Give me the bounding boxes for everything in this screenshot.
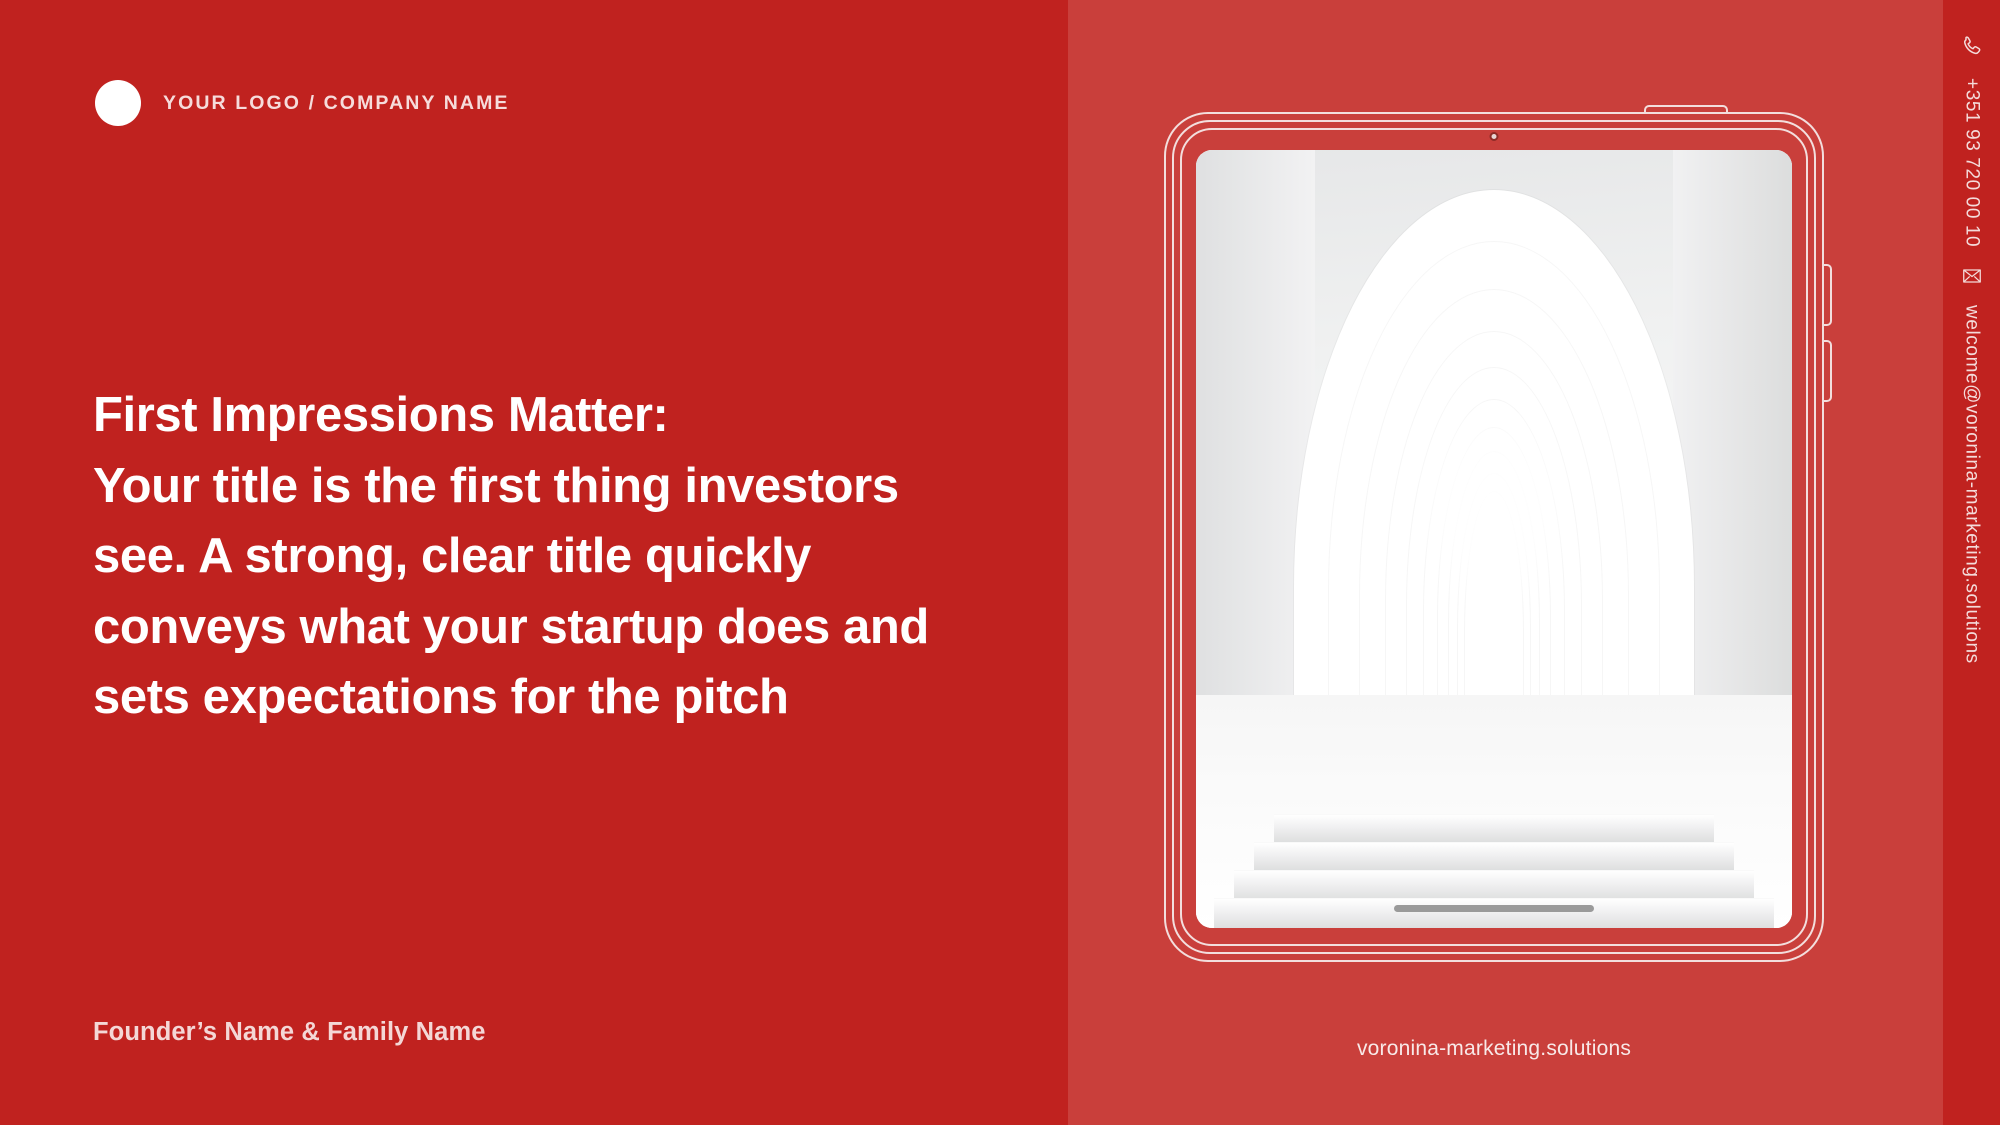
corridor-step-4 bbox=[1214, 898, 1774, 928]
corridor-step-2 bbox=[1254, 842, 1734, 870]
headline-line-1: First Impressions Matter: bbox=[93, 380, 1013, 451]
presentation-slide: YOUR LOGO / COMPANY NAME First Impressio… bbox=[0, 0, 2000, 1125]
circle-logo-mark-icon bbox=[95, 80, 141, 126]
envelope-icon bbox=[1961, 265, 1983, 287]
tablet-device-mockup bbox=[1164, 112, 1824, 962]
headline-block: First Impressions Matter: Your title is … bbox=[93, 380, 1013, 733]
website-url[interactable]: voronina-marketing.solutions bbox=[1357, 1037, 1631, 1061]
arched-corridor-image bbox=[1196, 150, 1792, 928]
headline-line-2: Your title is the first thing investors bbox=[93, 451, 1013, 522]
volume-down-button[interactable] bbox=[1823, 340, 1832, 402]
home-indicator-bar[interactable] bbox=[1394, 905, 1594, 912]
camera-dot-icon bbox=[1490, 132, 1499, 141]
headline-line-5: sets expectations for the pitch bbox=[93, 662, 1013, 733]
headline-line-4: conveys what your startup does and bbox=[93, 592, 1013, 663]
corridor-vanishing-glow bbox=[1419, 413, 1569, 603]
headline-line-3: see. A strong, clear title quickly bbox=[93, 521, 1013, 592]
volume-up-button[interactable] bbox=[1823, 264, 1832, 326]
corridor-step-3 bbox=[1234, 870, 1754, 900]
founder-name: Founder’s Name & Family Name bbox=[93, 1018, 486, 1047]
logo-text: YOUR LOGO / COMPANY NAME bbox=[163, 92, 510, 115]
power-button[interactable] bbox=[1644, 105, 1728, 114]
right-visual-panel: voronina-marketing.solutions bbox=[1068, 0, 2000, 1125]
contact-phone-number[interactable]: +351 93 720 00 10 bbox=[1961, 78, 1983, 247]
corridor-step-1 bbox=[1274, 814, 1714, 842]
contact-sidebar: +351 93 720 00 10 welcome@voronina-marke… bbox=[1943, 0, 2000, 1125]
phone-icon bbox=[1959, 34, 1985, 60]
contact-vertical-block: +351 93 720 00 10 welcome@voronina-marke… bbox=[1959, 34, 1985, 664]
left-content-panel: YOUR LOGO / COMPANY NAME First Impressio… bbox=[0, 0, 1068, 1125]
device-screen bbox=[1196, 150, 1792, 928]
brand-logo[interactable]: YOUR LOGO / COMPANY NAME bbox=[95, 80, 510, 126]
contact-email-address[interactable]: welcome@voronina-marketing.solutions bbox=[1961, 305, 1983, 664]
